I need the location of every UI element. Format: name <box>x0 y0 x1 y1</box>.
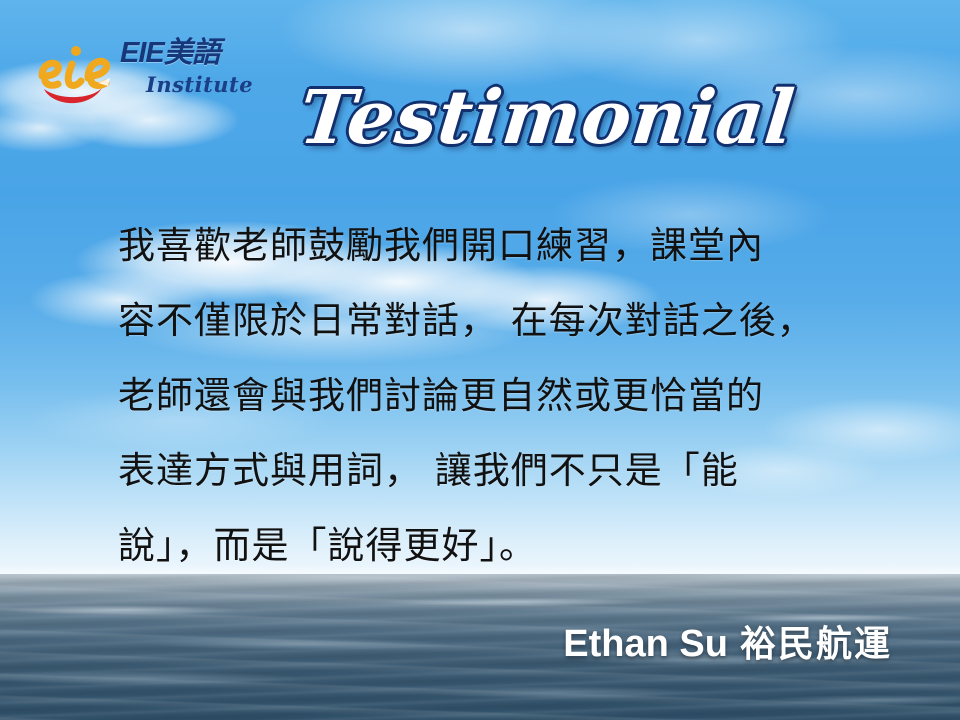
quote-line: 說」，而是「說得更好」。 <box>118 508 908 583</box>
logo-wordmark: EIE美語 <box>120 36 248 70</box>
eie-dot <box>71 46 81 56</box>
page-title: Testimonial <box>295 72 799 164</box>
testimonial-quote: 我喜歡老師鼓勵我們開口練習，課堂內 容不僅限於日常對話， 在每次對話之後， 老師… <box>118 208 908 583</box>
logo-wordmark-block: EIE美語 Institute <box>120 36 248 98</box>
logo-subtext: Institute <box>146 72 248 98</box>
attribution-company: 裕民航運 <box>740 622 892 666</box>
quote-line: 我喜歡老師鼓勵我們開口練習，課堂內 <box>118 208 908 283</box>
eie-logo: EIE美語 Institute <box>36 34 246 118</box>
attribution-name: Ethan Su <box>563 622 728 666</box>
quote-line: 容不僅限於日常對話， 在每次對話之後， <box>118 283 908 358</box>
quote-line: 表達方式與用詞， 讓我們不只是「能 <box>118 433 908 508</box>
eie-smile-icon <box>36 34 122 112</box>
red-swoosh <box>44 88 102 103</box>
testimonial-slide: EIE美語 Institute Testimonial 我喜歡老師鼓勵我們開口練… <box>0 0 960 720</box>
attribution: Ethan Su 裕民航運 <box>563 622 892 666</box>
quote-line: 老師還會與我們討論更自然或更恰當的 <box>118 358 908 433</box>
